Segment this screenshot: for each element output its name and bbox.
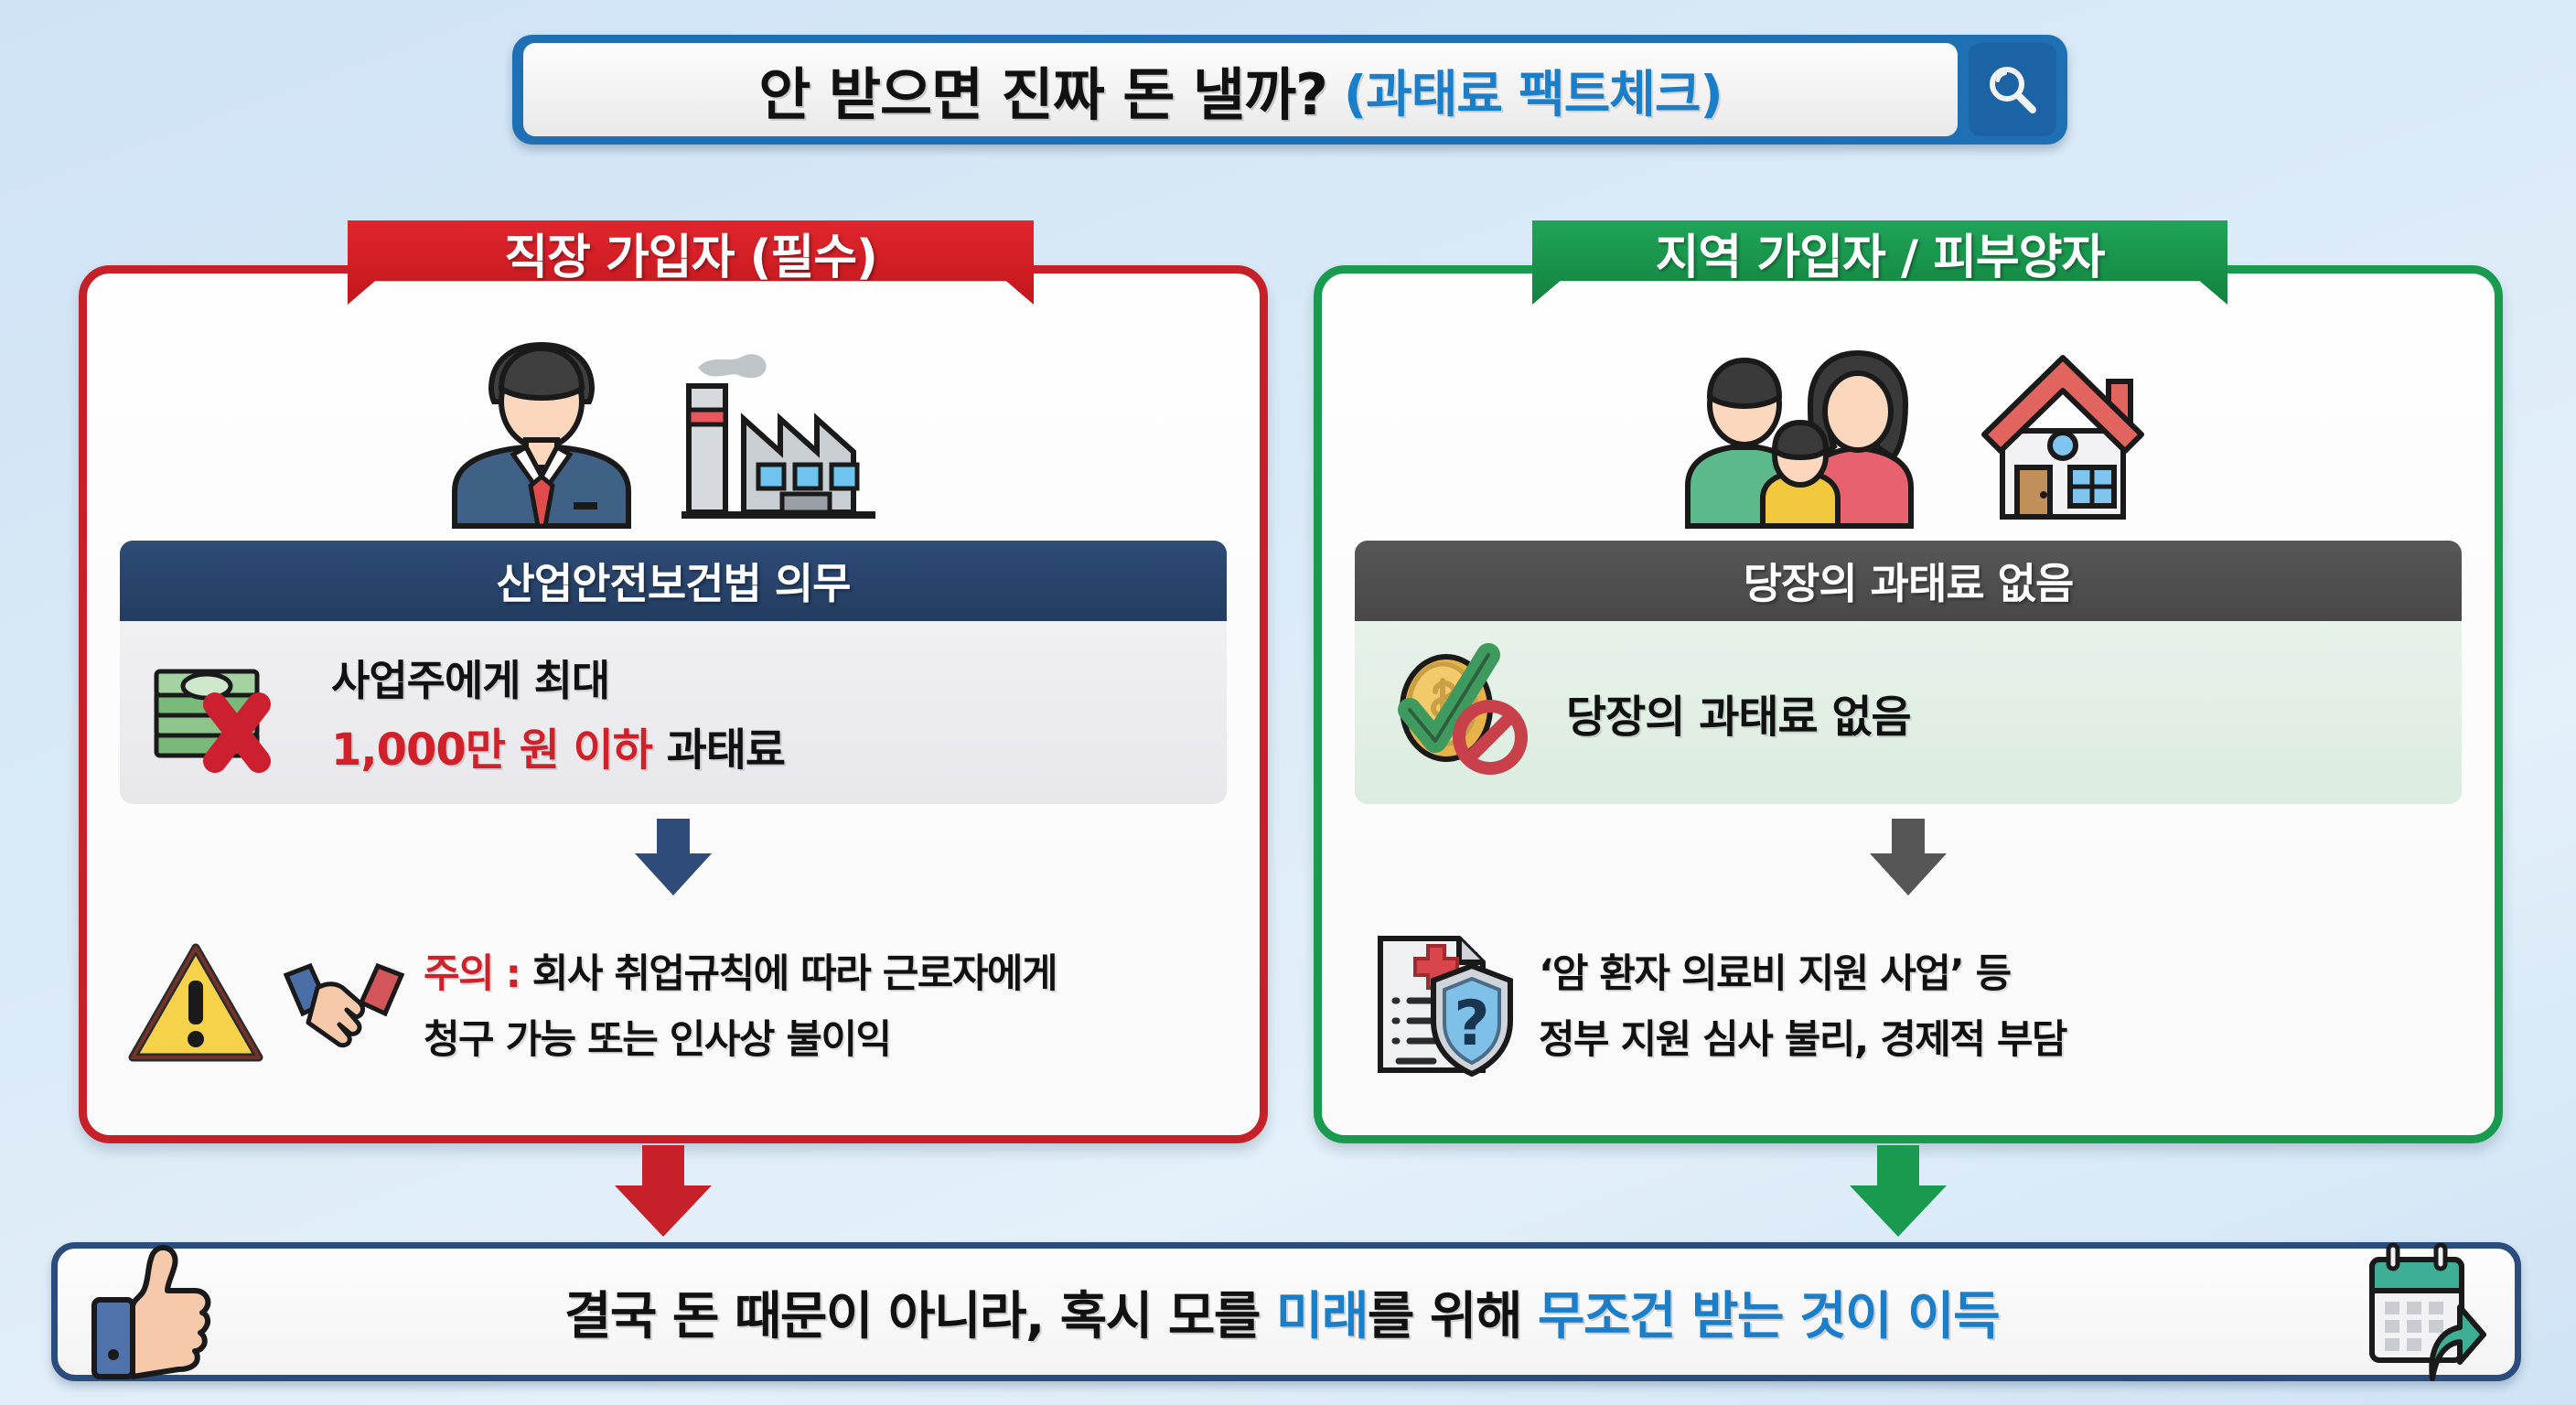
left-card-bar-label: 산업안전보건법 의무	[120, 541, 1227, 621]
page-title: 안 받으면 진짜 돈 낼까?	[758, 48, 1327, 131]
left-note-line2: 청구 가능 또는 인사상 불이익	[424, 1008, 1057, 1065]
coin-check-no-icon	[1382, 642, 1542, 784]
right-card-panel: 당장의 과태료 없음	[1355, 621, 2462, 804]
left-card-note: 주의 : 회사 취업규칙에 따라 근로자에게 청구 가능 또는 인사상 불이익	[114, 903, 1232, 1104]
right-card-bar-label: 당장의 과태료 없음	[1355, 541, 2462, 621]
handshake-icon	[281, 953, 407, 1054]
left-card-illustration	[87, 297, 1260, 526]
factory-icon	[682, 329, 910, 526]
right-card-note: ? ‘암 환자 의료비 지원 사업’ 등 정부 지원 심사 불리, 경제적 부담	[1349, 903, 2467, 1104]
magnifier-icon	[1983, 60, 2042, 119]
left-note-warn-label: 주의 :	[424, 951, 520, 997]
left-connector-arrow	[604, 1145, 723, 1237]
left-panel-line2-tail: 과태료	[667, 724, 785, 776]
conclusion-part1: 결국 돈 때문이 아니라, 혹시 모를	[564, 1287, 1276, 1346]
house-icon	[1971, 343, 2154, 526]
money-stack-x-icon	[147, 644, 307, 781]
right-panel-text: 당장의 과태료 없음	[1566, 681, 1911, 745]
card-regional-subscriber: 지역 가입자 / 피부양자	[1314, 265, 2503, 1143]
family-icon	[1662, 320, 1937, 526]
conclusion-highlight2: 무조건 받는 것이 이득	[1538, 1287, 1999, 1346]
left-card-inner-arrow	[87, 819, 1260, 896]
page-subtitle: (과태료 팩트체크)	[1344, 53, 1723, 126]
right-connector-arrow	[1839, 1145, 1958, 1237]
conclusion-bar: 결국 돈 때문이 아니라, 혹시 모를 미래를 위해 무조건 받는 것이 이득	[51, 1242, 2521, 1381]
thumbs-up-icon	[89, 1243, 208, 1380]
title-plate: 안 받으면 진짜 돈 낼까? (과태료 팩트체크)	[523, 43, 1958, 136]
svg-text:?: ?	[1454, 988, 1489, 1060]
businessman-icon	[436, 325, 647, 526]
conclusion-text: 결국 돈 때문이 아니라, 혹시 모를 미래를 위해 무조건 받는 것이 이득	[228, 1275, 2335, 1349]
right-card-inner-arrow	[1322, 819, 2495, 896]
conclusion-highlight1: 미래	[1276, 1287, 1368, 1346]
left-card-panel: 사업주에게 최대 1,000만 원 이하 과태료	[120, 621, 1227, 804]
left-panel-line1: 사업주에게 최대	[331, 648, 785, 708]
card-workplace-subscriber: 직장 가입자 (필수)	[79, 265, 1268, 1143]
search-button[interactable]	[1969, 43, 2056, 136]
right-card-illustration	[1322, 297, 2495, 526]
right-card-ribbon-title: 지역 가입자 / 피부양자	[1532, 220, 2227, 305]
left-panel-amount: 1,000만 원 이하	[331, 724, 652, 776]
medical-document-icon: ?	[1362, 924, 1522, 1084]
right-note-line2: 정부 지원 심사 불리, 경제적 부담	[1539, 1008, 2066, 1065]
left-card-ribbon-title: 직장 가입자 (필수)	[348, 220, 1034, 305]
warning-triangle-icon	[127, 940, 264, 1067]
calendar-arrow-icon	[2356, 1243, 2484, 1380]
left-note-line1: 회사 취업규칙에 따라 근로자에게	[532, 951, 1057, 997]
conclusion-part2: 를 위해	[1368, 1287, 1538, 1346]
page-title-bar: 안 받으면 진짜 돈 낼까? (과태료 팩트체크)	[512, 35, 2067, 145]
right-note-line1: ‘암 환자 의료비 지원 사업’ 등	[1539, 942, 2066, 999]
